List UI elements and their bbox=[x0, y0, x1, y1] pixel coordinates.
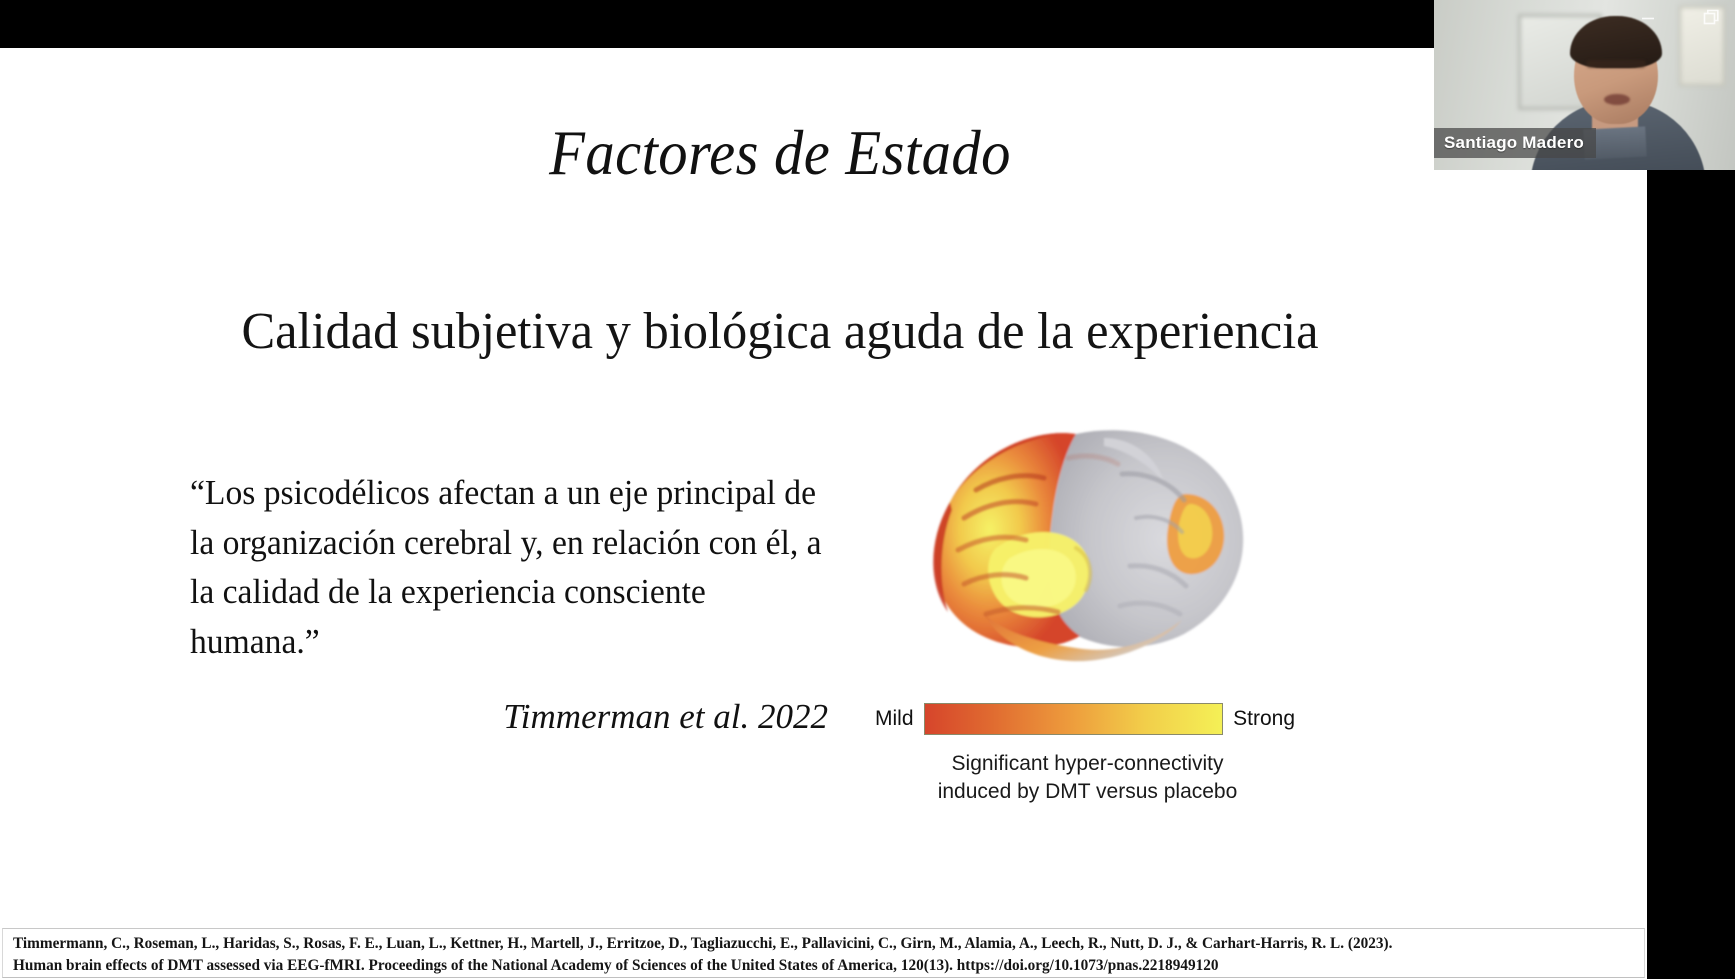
presentation-slide: Factores de Estado Calidad subjetiva y b… bbox=[0, 48, 1647, 979]
brain-figure: Mild Strong Significant hyper-connectivi… bbox=[880, 398, 1310, 878]
slide-subtitle: Calidad subjetiva y biológica aguda de l… bbox=[23, 303, 1536, 360]
letterbox-right bbox=[1647, 48, 1735, 979]
colorbar-gradient bbox=[924, 703, 1224, 735]
colorbar-low-label: Mild bbox=[875, 707, 914, 731]
restore-window-button[interactable] bbox=[1697, 4, 1727, 32]
screen-share-view: Factores de Estado Calidad subjetiva y b… bbox=[0, 0, 1735, 979]
citation-line-2: Human brain effects of DMT assessed via … bbox=[13, 955, 1610, 977]
participant-mouth bbox=[1604, 94, 1630, 105]
minimize-button[interactable] bbox=[1633, 4, 1663, 32]
colorbar-high-label: Strong bbox=[1233, 707, 1295, 731]
colorbar-row: Mild Strong bbox=[875, 703, 1295, 735]
participant-brow bbox=[1586, 60, 1646, 68]
participant-name-badge: Santiago Madero bbox=[1434, 128, 1596, 158]
citation-line-1: Timmermann, C., Roseman, L., Haridas, S.… bbox=[13, 933, 1610, 955]
window-controls bbox=[1633, 4, 1727, 32]
slide-title: Factores de Estado bbox=[55, 120, 1506, 186]
citation-textbox: Timmermann, C., Roseman, L., Haridas, S.… bbox=[2, 928, 1645, 978]
quote-block: “Los psicodélicos afectan a un eje princ… bbox=[190, 468, 850, 737]
figure-caption: Significant hyper-connectivity induced b… bbox=[880, 750, 1295, 805]
quote-text: “Los psicodélicos afectan a un eje princ… bbox=[190, 468, 824, 667]
brain-render-image bbox=[880, 398, 1280, 698]
quote-attribution: Timmerman et al. 2022 bbox=[190, 697, 850, 737]
